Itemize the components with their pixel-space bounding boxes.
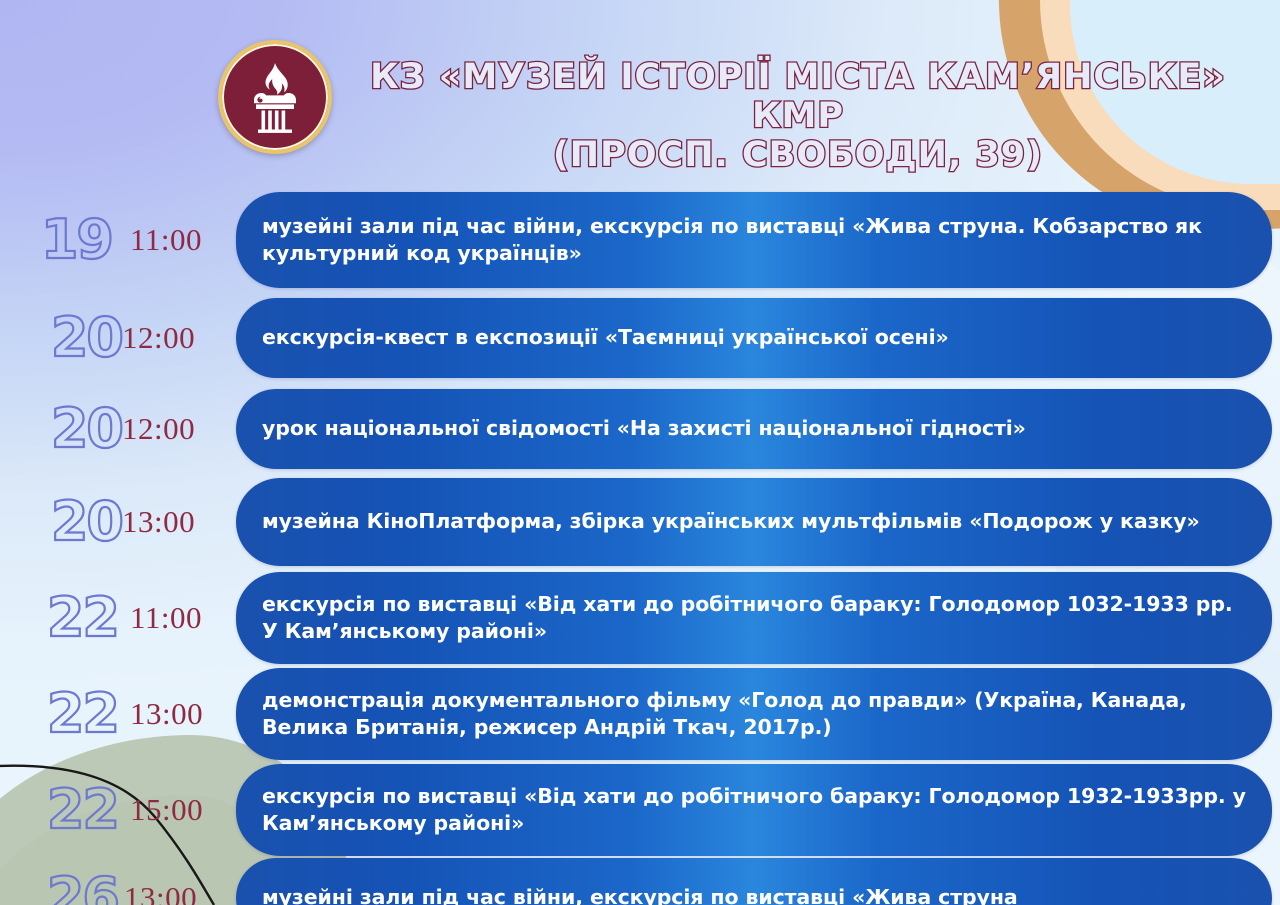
day-number: 19: [41, 208, 112, 271]
time-cell: 11:00: [122, 222, 236, 258]
day-cell: 22: [0, 591, 122, 645]
event-time: 13:00: [122, 504, 195, 539]
event-time: 11:00: [130, 222, 202, 257]
time-cell: 11:00: [122, 600, 236, 636]
day-cell: 19: [0, 213, 122, 267]
schedule-row[interactable]: 22 11:00 екскурсія по виставці «Від хати…: [0, 570, 1280, 666]
schedule-row[interactable]: 19 11:00 музейні зали під час війни, екс…: [0, 188, 1280, 292]
day-cell: 20: [0, 402, 122, 456]
day-cell: 22: [0, 783, 122, 837]
schedule-row[interactable]: 22 13:00 демонстрація документального фі…: [0, 666, 1280, 762]
event-time: 13:00: [130, 696, 203, 731]
schedule-list: 19 11:00 музейні зали під час війни, екс…: [0, 188, 1280, 905]
event-pill[interactable]: музейна КіноПлатформа, збірка українськи…: [236, 478, 1272, 566]
time-cell: 13:00: [122, 880, 236, 905]
day-cell: 20: [0, 311, 122, 365]
time-cell: 13:00: [122, 504, 236, 540]
event-time: 12:00: [122, 411, 195, 446]
time-cell: 15:00: [122, 792, 236, 828]
event-pill[interactable]: екскурсія по виставці «Від хати до робіт…: [236, 572, 1272, 664]
event-title: екскурсія по виставці «Від хати до робіт…: [262, 783, 1246, 838]
event-pill[interactable]: музейні зали під час війни, екскурсія по…: [236, 858, 1272, 905]
event-title: музейні зали під час війни, екскурсія по…: [262, 884, 1018, 905]
poster-canvas: КЗ «МУЗЕЙ ІСТОРІЇ МІСТА КАМ’ЯНСЬКЕ» КМР …: [0, 0, 1280, 905]
day-number: 20: [51, 397, 122, 460]
event-title: музейна КіноПлатформа, збірка українськи…: [262, 508, 1200, 535]
museum-emblem: [218, 40, 332, 154]
event-title: екскурсія по виставці «Від хати до робіт…: [262, 591, 1246, 646]
day-number: 20: [51, 490, 122, 553]
event-title: демонстрація документального фільму «Гол…: [262, 687, 1246, 742]
day-number: 20: [51, 306, 122, 369]
event-time: 11:00: [130, 600, 202, 635]
day-cell: 26: [0, 871, 122, 905]
column-flame-icon: [236, 58, 314, 136]
time-cell: 12:00: [122, 411, 236, 447]
time-cell: 12:00: [122, 320, 236, 356]
day-number: 26: [47, 866, 118, 905]
poster-header: КЗ «МУЗЕЙ ІСТОРІЇ МІСТА КАМ’ЯНСЬКЕ» КМР …: [0, 0, 1280, 188]
event-time: 13:00: [124, 880, 197, 905]
schedule-row[interactable]: 26 13:00 музейні зали під час війни, екс…: [0, 858, 1280, 905]
day-number: 22: [47, 778, 118, 841]
schedule-row[interactable]: 20 13:00 музейна КіноПлатформа, збірка у…: [0, 474, 1280, 570]
event-pill[interactable]: екскурсія по виставці «Від хати до робіт…: [236, 764, 1272, 856]
event-title: урок національної свідомості «На захисті…: [262, 415, 1026, 442]
event-pill[interactable]: демонстрація документального фільму «Гол…: [236, 668, 1272, 760]
event-time: 12:00: [122, 320, 195, 355]
day-number: 22: [47, 586, 118, 649]
title-line-1: КЗ «МУЗЕЙ ІСТОРІЇ МІСТА КАМ’ЯНСЬКЕ»: [358, 58, 1238, 97]
event-pill[interactable]: урок національної свідомості «На захисті…: [236, 389, 1272, 469]
day-cell: 20: [0, 495, 122, 549]
time-cell: 13:00: [122, 696, 236, 732]
schedule-row[interactable]: 20 12:00 урок національної свідомості «Н…: [0, 384, 1280, 474]
event-title: екскурсія-квест в експозиції «Таємниці у…: [262, 324, 949, 351]
title-line-2: КМР: [358, 97, 1238, 136]
schedule-row[interactable]: 22 15:00 екскурсія по виставці «Від хати…: [0, 762, 1280, 858]
event-time: 15:00: [130, 792, 203, 827]
title-line-3: (ПРОСП. СВОБОДИ, 39): [358, 136, 1238, 175]
event-title: музейні зали під час війни, екскурсія по…: [262, 213, 1246, 268]
day-cell: 22: [0, 687, 122, 741]
schedule-row[interactable]: 20 12:00 екскурсія-квест в експозиції «Т…: [0, 292, 1280, 384]
day-number: 22: [47, 682, 118, 745]
event-pill[interactable]: музейні зали під час війни, екскурсія по…: [236, 192, 1272, 288]
page-title: КЗ «МУЗЕЙ ІСТОРІЇ МІСТА КАМ’ЯНСЬКЕ» КМР …: [358, 58, 1238, 176]
event-pill[interactable]: екскурсія-квест в експозиції «Таємниці у…: [236, 298, 1272, 378]
